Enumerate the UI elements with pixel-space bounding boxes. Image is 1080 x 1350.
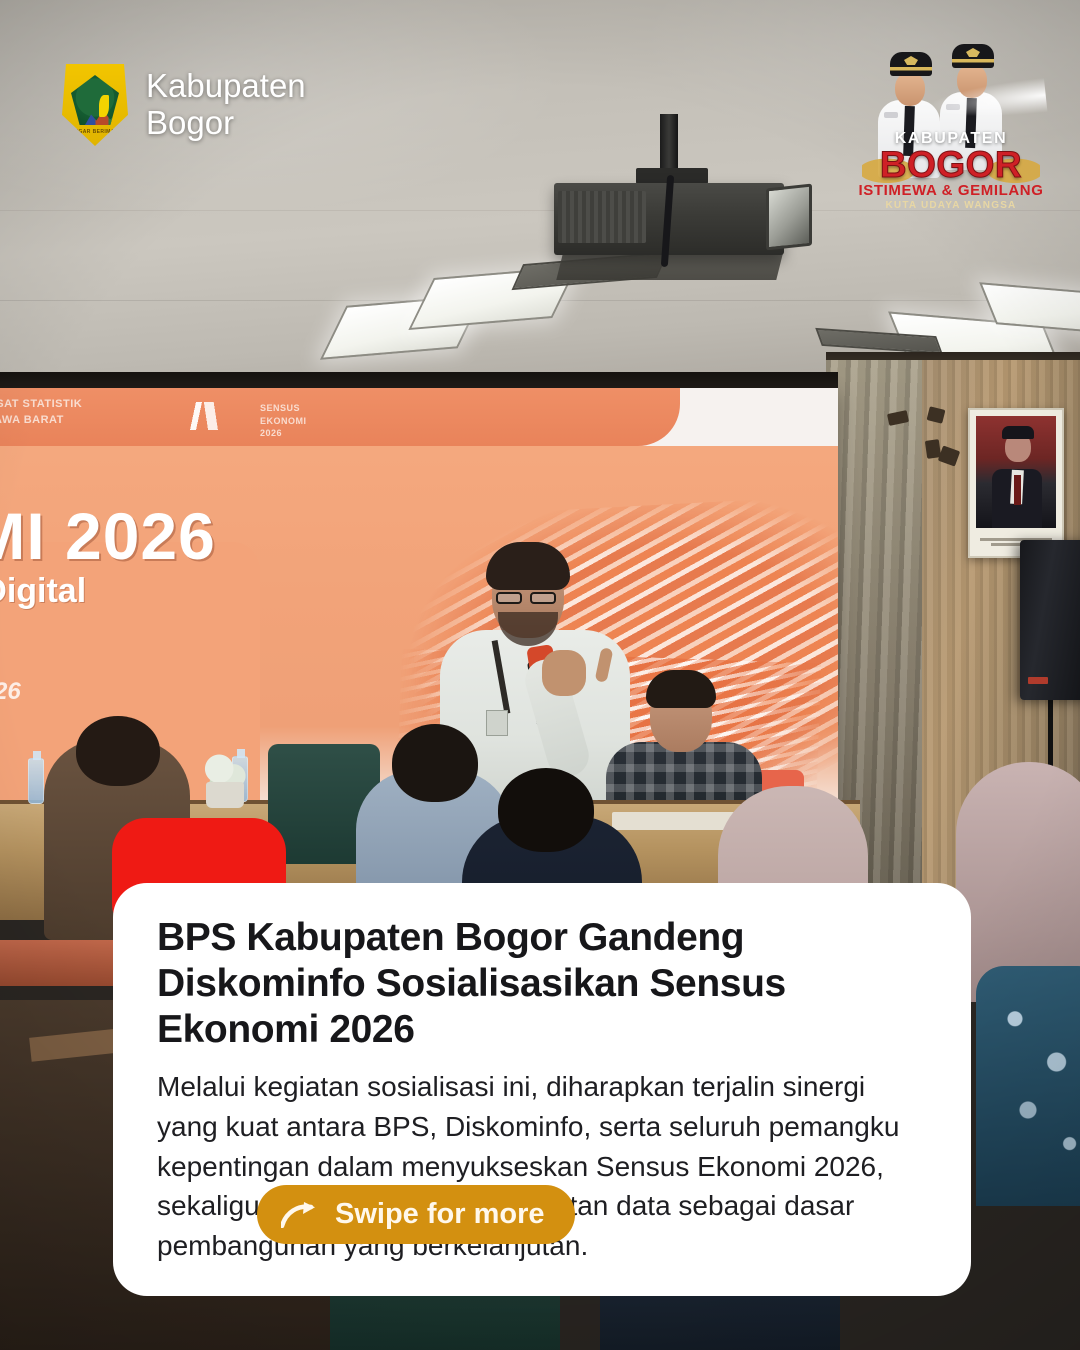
slide-subtitle: Era Digital [0,572,348,611]
audience-head [76,716,160,786]
emblem-motto: TEGAR BERIMAN [68,126,122,138]
slide-logo-caption: SENSUSEKONOMI2026 [260,402,307,440]
slide-org-line2: NSI JAWA BARAT [0,414,64,426]
swipe-for-more-button[interactable]: Swipe for more [257,1185,575,1244]
pa-speaker-icon [1020,540,1080,700]
kabupaten-bogor-brand-lockup: TEGAR BERIMAN Kabupaten Bogor [62,64,306,146]
portrait-tie [1014,475,1021,505]
emblem-kujang [99,95,109,117]
slide-title: OMI 2026 [0,498,348,574]
brand-name-line2: Bogor [146,105,306,142]
presenter-hair [486,542,570,590]
regent-cap [890,52,932,76]
curved-arrow-right-icon [281,1202,321,1228]
logo-bogor-label: BOGOR [856,144,1046,186]
slide-footnote: omi 2026 [0,678,21,706]
portrait-photo [976,416,1056,528]
audience-head [498,768,594,852]
seated-participant-hair [646,670,716,708]
presenter-hand [542,650,586,696]
table-edge [0,940,120,986]
swipe-button-label: Swipe for more [335,1198,545,1231]
brand-name-line1: Kabupaten [146,68,306,105]
presenter-glasses-icon [496,592,560,604]
water-bottle [28,758,44,804]
framed-portrait-icon [968,408,1064,558]
emblem-shield-inner [71,75,119,125]
kabupaten-bogor-coat-of-arms-icon: TEGAR BERIMAN [62,64,128,146]
projector-lens [766,184,812,251]
logo-tagline: ISTIMEWA & GEMILANG [856,182,1046,199]
presenter-badge [486,710,508,736]
logo-subtagline: KUTA UDAYA WANGSA [856,200,1046,211]
caption-card: BPS Kabupaten Bogor Gandeng Diskominfo S… [113,883,971,1296]
plant-pot [206,782,244,808]
bogor-regent-portrait-logo-icon: KABUPATEN BOGOR ISTIMEWA & GEMILANG KUTA… [856,34,1046,224]
brand-name: Kabupaten Bogor [146,68,306,142]
audience-head [392,724,478,802]
portrait-cap [1002,426,1034,439]
audience-member-patterned-dress [976,966,1080,1206]
regent-cap [952,44,994,68]
slide-header-bar [0,388,680,446]
bps-logo-icon [187,402,253,430]
card-title: BPS Kabupaten Bogor Gandeng Diskominfo S… [157,915,927,1053]
projector-mount-rod [660,114,678,174]
regent-face [895,72,925,106]
social-post-canvas: N PUSAT STATISTIK NSI JAWA BARAT SENSUSE… [0,0,1080,1350]
slide-org-line1: N PUSAT STATISTIK [0,398,82,410]
